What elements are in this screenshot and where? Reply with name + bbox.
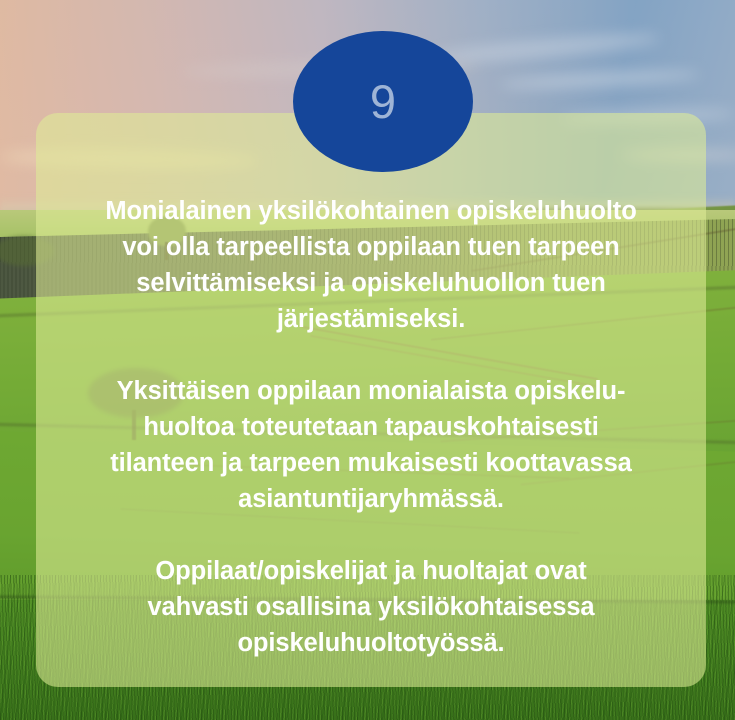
- paragraph-spacer: [58, 337, 684, 373]
- text-line: opiskeluhuoltotyössä.: [237, 629, 504, 657]
- slide-canvas: 9 Monialainen yksilökohtainen opiskeluhu…: [0, 0, 735, 720]
- text-line: järjestämiseksi.: [277, 305, 465, 333]
- slide-number-badge: 9: [293, 31, 473, 172]
- text-line: tilanteen ja tarpeen mukaisesti koottava…: [110, 449, 632, 477]
- body-copy: Monialainen yksilökohtainen opiskeluhuol…: [58, 193, 684, 661]
- text-line: Yksittäisen oppilaan monialaista opiskel…: [117, 377, 626, 405]
- text-line: Monialainen yksilökohtainen opiskeluhuol…: [105, 197, 636, 225]
- slide-number-label: 9: [370, 78, 396, 125]
- paragraph-spacer: [58, 517, 684, 553]
- paragraph-2: Yksittäisen oppilaan monialaista opiskel…: [58, 373, 684, 517]
- text-line: asiantuntijaryhmässä.: [238, 485, 504, 513]
- paragraph-1: Monialainen yksilökohtainen opiskeluhuol…: [58, 193, 684, 337]
- text-line: huoltoa toteutetaan tapauskohtaisesti: [143, 413, 598, 441]
- text-line: voi olla tarpeellista oppilaan tuen tarp…: [122, 233, 619, 261]
- text-line: selvittämiseksi ja opiskeluhuollon tuen: [136, 269, 605, 297]
- text-line: Oppilaat/opiskelijat ja huoltajat ovat: [155, 557, 586, 585]
- text-line: vahvasti osallisina yksilökohtaisessa: [147, 593, 594, 621]
- paragraph-3: Oppilaat/opiskelijat ja huoltajat ovat v…: [58, 553, 684, 661]
